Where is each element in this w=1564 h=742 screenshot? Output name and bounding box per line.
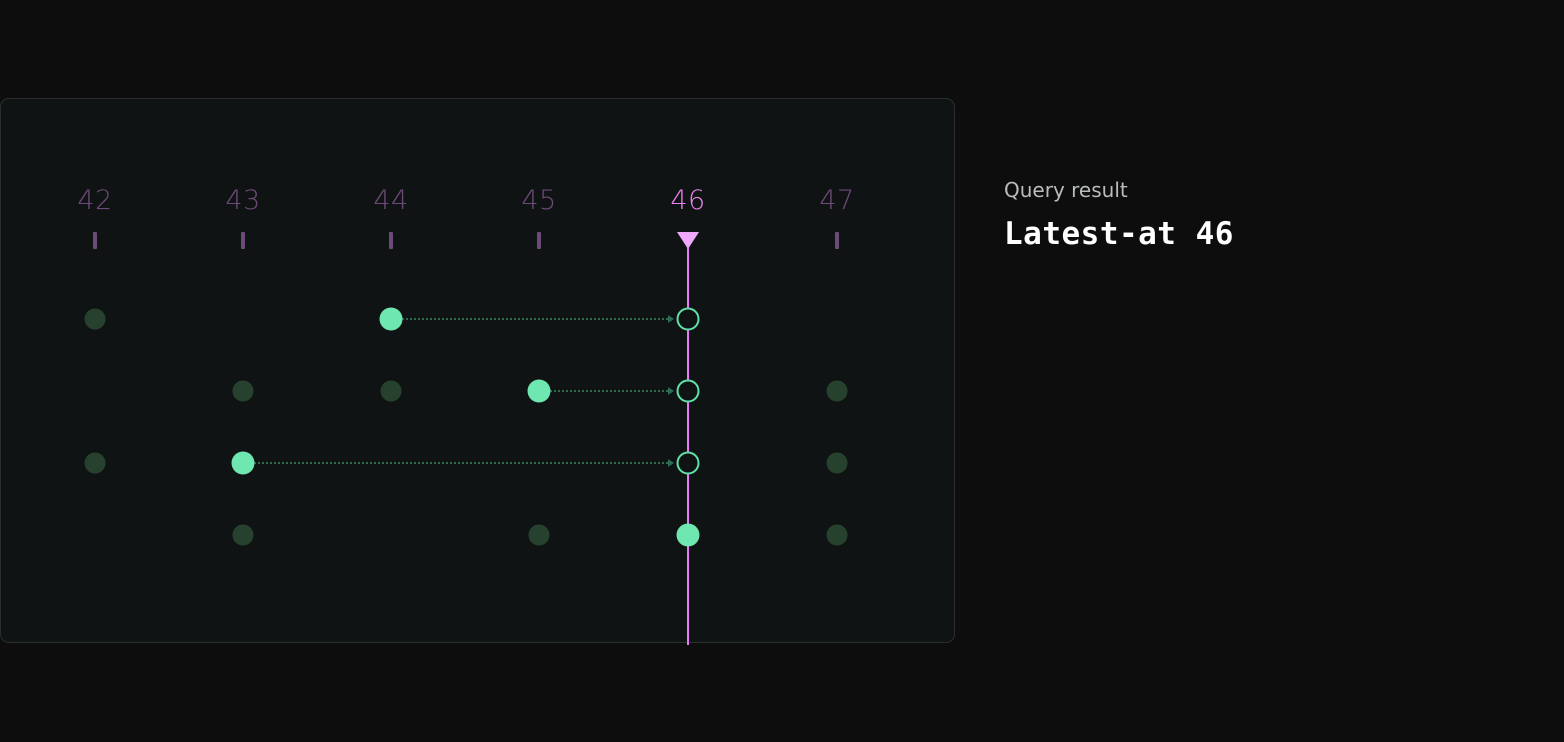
axis-label-43[interactable]: 43 [225,187,260,214]
connector-line [243,462,672,464]
connector-line [539,390,672,392]
data-point-active-45[interactable] [528,380,551,403]
data-point-inactive-47[interactable] [827,453,848,474]
axis-tick-43 [241,232,245,249]
axis-tick-45 [537,232,541,249]
data-point-hollow-46[interactable] [677,308,700,331]
data-point-inactive-47[interactable] [827,381,848,402]
connector-line [391,318,672,320]
data-point-active-46[interactable] [677,524,700,547]
data-point-inactive-45[interactable] [529,525,550,546]
axis-label-47[interactable]: 47 [819,187,854,214]
data-point-inactive-47[interactable] [827,525,848,546]
query-result-value: Latest-at 46 [1004,216,1524,253]
data-point-active-43[interactable] [232,452,255,475]
axis-tick-47 [835,232,839,249]
data-point-inactive-44[interactable] [381,381,402,402]
axis-tick-42 [93,232,97,249]
data-point-inactive-42[interactable] [85,453,106,474]
connector-arrow-icon [668,387,674,395]
data-point-inactive-43[interactable] [233,525,254,546]
query-result-caption: Query result [1004,178,1524,202]
axis-label-46[interactable]: 46 [670,187,705,214]
data-point-inactive-42[interactable] [85,309,106,330]
query-result-block: Query result Latest-at 46 [1004,178,1524,253]
data-point-hollow-46[interactable] [677,380,700,403]
connector-arrow-icon [668,459,674,467]
query-marker-head-icon[interactable] [677,232,699,249]
data-point-hollow-46[interactable] [677,452,700,475]
timeline-panel: 424344454647 [0,98,955,643]
axis-label-45[interactable]: 45 [521,187,556,214]
screenshot-root: 424344454647 Query result Latest-at 46 [0,0,1564,742]
data-point-active-44[interactable] [380,308,403,331]
axis-label-42[interactable]: 42 [77,187,112,214]
connector-arrow-icon [668,315,674,323]
plot-area: 424344454647 [1,99,954,642]
data-point-inactive-43[interactable] [233,381,254,402]
axis-label-44[interactable]: 44 [373,187,408,214]
axis-tick-44 [389,232,393,249]
